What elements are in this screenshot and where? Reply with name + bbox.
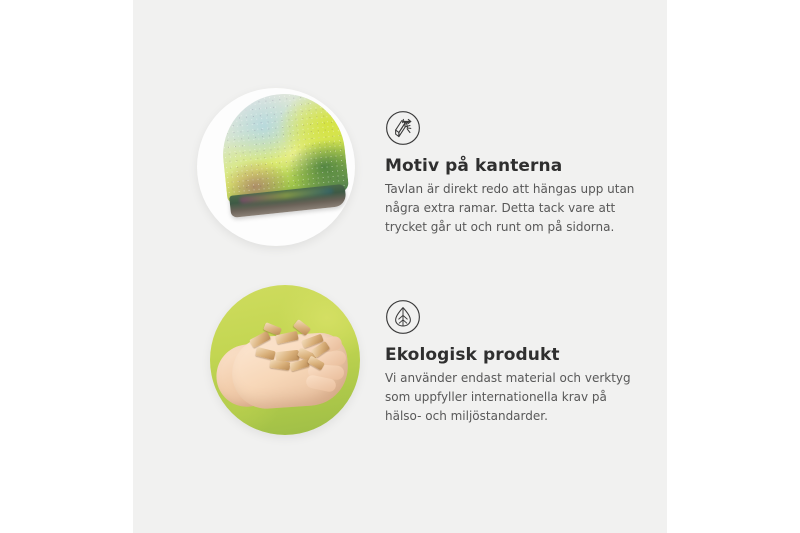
wood-chips-hands-photo: [210, 285, 360, 435]
feature-1-description: Tavlan är direkt redo att hängas upp uta…: [385, 180, 647, 236]
green-meadow-background: [210, 285, 360, 435]
canvas-artwork: [217, 88, 351, 220]
product-feature-panel: Motiv på kanterna Tavlan är direkt redo …: [0, 0, 800, 533]
feature-1-text: Motiv på kanterna Tavlan är direkt redo …: [385, 110, 661, 236]
canvas-wrap-icon: [385, 110, 421, 146]
leaf-icon: [385, 299, 421, 335]
feature-block-ekologisk-produkt: Ekologisk produkt Vi använder endast mat…: [133, 285, 667, 437]
content-panel: Motiv på kanterna Tavlan är direkt redo …: [133, 0, 667, 533]
canvas-corner-photo: [197, 88, 355, 246]
feature-2-title: Ekologisk produkt: [385, 345, 661, 365]
feature-block-motiv-pa-kanterna: Motiv på kanterna Tavlan är direkt redo …: [133, 88, 667, 248]
feature-1-title: Motiv på kanterna: [385, 156, 661, 176]
feature-2-text: Ekologisk produkt Vi använder endast mat…: [385, 299, 661, 425]
wood-chips: [246, 321, 338, 375]
feature-2-description: Vi använder endast material och verktyg …: [385, 369, 647, 425]
